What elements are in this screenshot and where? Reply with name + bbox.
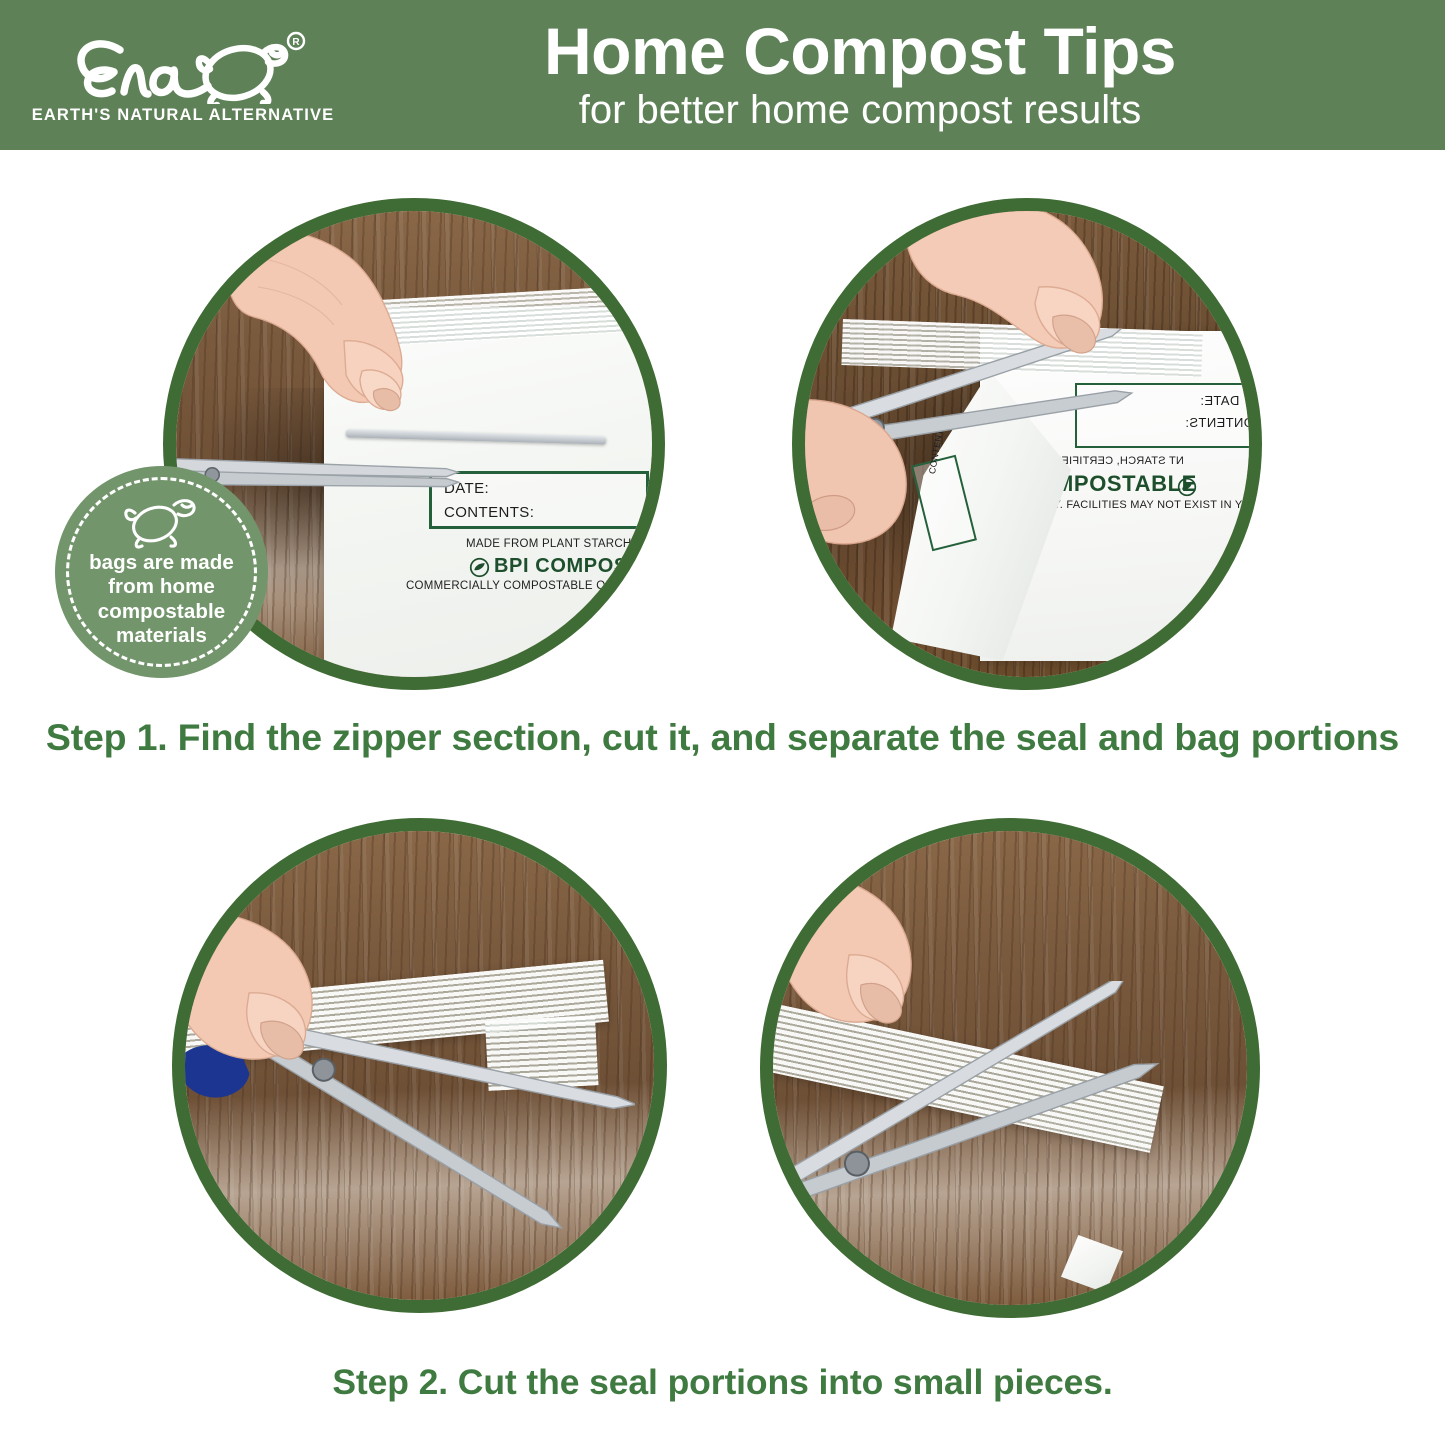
bpi-certification-icon (1177, 477, 1197, 497)
hand-bottom (805, 391, 955, 566)
home-compostable-badge: bags are madefrom homecompostablemateria… (55, 466, 268, 678)
turtle-icon (117, 493, 205, 549)
brand-tagline: EARTH'S NATURAL ALTERNATIVE (32, 106, 335, 125)
bag-label-line3: LY. FACILITIES MAY NOT EXIST IN YOUR AR (1048, 499, 1249, 511)
brand-logo: R EARTH'S NATURAL ALTERNATIVE (52, 20, 314, 132)
badge-label: bags are madefrom homecompostablemateria… (55, 551, 268, 649)
bag-label-contents: CONTENTS: (1185, 415, 1249, 430)
poster-root: R EARTH'S NATURAL ALTERNATIVE Home Compo… (0, 0, 1445, 1445)
page-subtitle: for better home compost results (579, 87, 1141, 133)
brand-wordmark: R (58, 28, 308, 104)
bpi-certification-icon (469, 557, 490, 578)
bag-label-bpi: BPI COMPOST (494, 555, 641, 578)
step-2-caption: Step 2. Cut the seal portions into small… (0, 1362, 1445, 1403)
hand (185, 909, 345, 1099)
bag-label-line1: MADE FROM PLANT STARCH, CER (466, 538, 652, 550)
svg-text:R: R (292, 37, 300, 48)
bag-label-line3: COMMERCIALLY COMPOSTABLE ONLY. FACILITIE… (406, 580, 652, 592)
page-title: Home Compost Tips (544, 18, 1176, 84)
step-1-caption: Step 1. Find the zipper section, cut it,… (0, 716, 1445, 759)
photo-step2-a (172, 818, 667, 1313)
hand (773, 873, 937, 1058)
header-titles: Home Compost Tips for better home compos… (330, 8, 1390, 142)
bag-label-date: DATE: (1200, 393, 1239, 408)
hand (224, 221, 454, 436)
photo-step1-b: DATE: CONTENTS: NT STARCH, CERTIFIED MPO… (792, 198, 1262, 690)
page-header: R EARTH'S NATURAL ALTERNATIVE Home Compo… (0, 0, 1445, 150)
hand-top (895, 211, 1145, 381)
photo-step2-b (760, 818, 1260, 1318)
